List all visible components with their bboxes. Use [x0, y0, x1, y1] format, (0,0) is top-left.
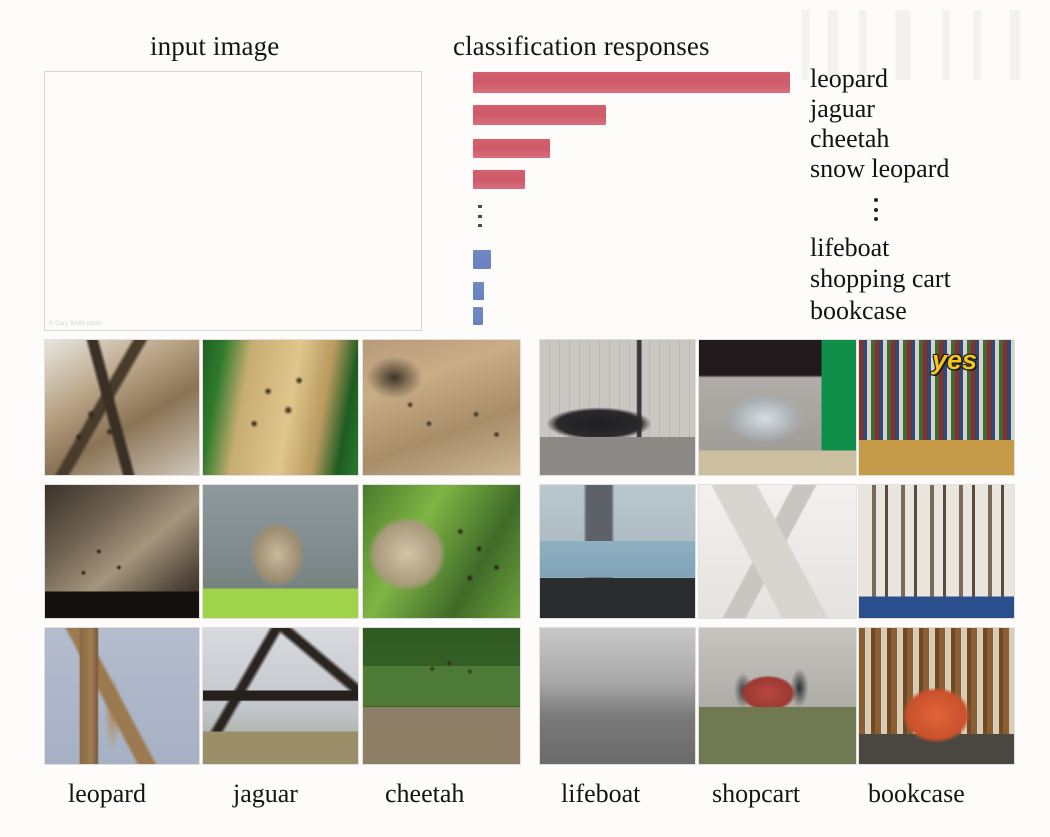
thumb-shopcart-3 — [698, 627, 857, 765]
thumb-leopard-2 — [44, 484, 200, 619]
input-image-title: input image — [150, 31, 279, 62]
chart-ellipsis-icon — [477, 205, 482, 227]
thumb-leopard-3 — [44, 627, 200, 765]
classification-responses-title: classification responses — [453, 31, 710, 62]
bar-bookcase — [473, 307, 483, 325]
thumb-leopard-1 — [44, 339, 200, 476]
thumb-cheetah-1 — [362, 339, 521, 476]
bar-leopard — [473, 72, 790, 93]
classification-response-bar-chart — [473, 66, 803, 326]
column-label-leopard: leopard — [68, 779, 146, 809]
bar-cheetah — [473, 139, 550, 158]
class-label-lifeboat: lifeboat — [810, 235, 889, 261]
photo-credit: © Gary Smith photo — [49, 321, 102, 327]
thumb-jaguar-3 — [202, 627, 359, 765]
column-label-shopcart: shopcart — [712, 779, 800, 809]
thumb-bookcase-2 — [858, 484, 1015, 619]
column-label-lifeboat: lifeboat — [561, 779, 640, 809]
class-label-jaguar: jaguar — [810, 96, 875, 122]
thumb-jaguar-1 — [202, 339, 359, 476]
input-image-photo: © Gary Smith photo — [44, 71, 422, 331]
thumb-cheetah-2 — [362, 484, 521, 619]
thumb-lifeboat-3 — [539, 627, 696, 765]
class-label-shopping-cart: shopping cart — [810, 266, 951, 292]
column-label-cheetah: cheetah — [385, 779, 464, 809]
thumb-cheetah-3 — [362, 627, 521, 765]
bar-jaguar — [473, 105, 606, 125]
class-label-bookcase: bookcase — [810, 298, 907, 324]
column-label-bookcase: bookcase — [868, 779, 965, 809]
labels-ellipsis-icon — [873, 198, 879, 221]
thumb-shopcart-2 — [698, 484, 857, 619]
class-label-cheetah: cheetah — [810, 126, 889, 152]
class-label-snow-leopard: snow leopard — [810, 156, 949, 182]
thumb-jaguar-2 — [202, 484, 359, 619]
bar-shopping-cart — [473, 282, 484, 300]
yes-overlay-text: yes — [932, 345, 977, 376]
bar-snow-leopard — [473, 170, 525, 189]
class-label-leopard: leopard — [810, 66, 888, 92]
bar-lifeboat — [473, 250, 491, 269]
thumb-lifeboat-1 — [539, 339, 696, 476]
thumb-bookcase-1: yes — [858, 339, 1015, 476]
column-label-jaguar: jaguar — [233, 779, 298, 809]
thumb-lifeboat-2 — [539, 484, 696, 619]
thumb-shopcart-1 — [698, 339, 857, 476]
thumb-bookcase-3 — [858, 627, 1015, 765]
